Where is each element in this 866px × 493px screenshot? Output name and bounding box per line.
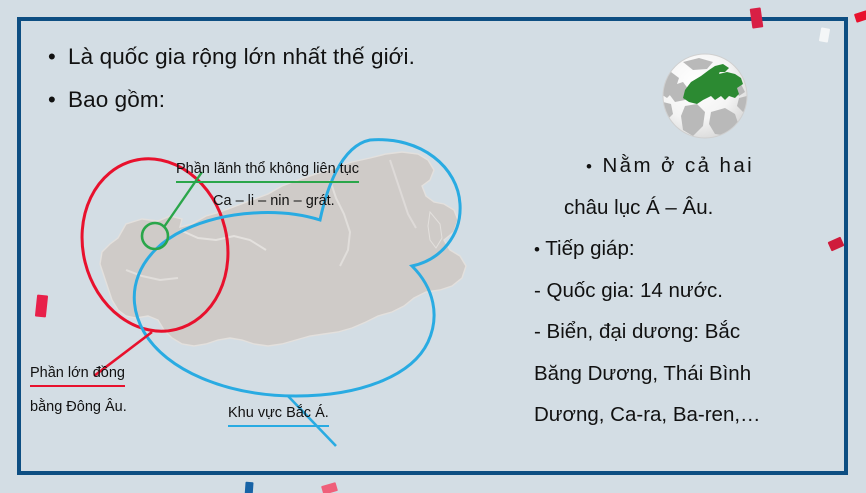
annotation-text: Ca – li – nin – grát. bbox=[213, 193, 335, 209]
confetti-white-top bbox=[819, 27, 830, 42]
bullet-dot-icon: • bbox=[48, 46, 68, 68]
right-line-text: châu lục Á – Âu. bbox=[564, 196, 713, 219]
confetti-red-top-left-of-frame bbox=[750, 7, 764, 28]
right-line-text: Băng Dương, Thái Bình bbox=[534, 362, 751, 385]
confetti-red-top-right bbox=[854, 10, 866, 23]
bullet-dot-icon: • bbox=[534, 240, 540, 259]
red-underline bbox=[30, 385, 125, 388]
globe-icon bbox=[655, 46, 755, 146]
annotation-text: Phần lãnh thổ không liên tục bbox=[176, 161, 359, 177]
right-line: Dương, Ca-ra, Ba-ren,… bbox=[534, 405, 846, 426]
annotation-europe-line1: Phần lớn đồng bbox=[30, 363, 125, 387]
right-line-text: Nằm ở cả hai bbox=[602, 154, 754, 177]
right-line-text: - Biển, đại dương: Bắc bbox=[534, 320, 740, 343]
blue-underline bbox=[228, 425, 329, 428]
bullet-dot-icon: • bbox=[586, 157, 594, 176]
confetti-blue-bottom bbox=[244, 482, 253, 493]
list-item: • Là quốc gia rộng lớn nhất thế giới. bbox=[48, 44, 518, 71]
right-line-text: - Quốc gia: 14 nước. bbox=[534, 279, 723, 302]
right-line: - Biển, đại dương: Bắc bbox=[534, 322, 846, 343]
annotation-text: bằng Đông Âu. bbox=[30, 399, 127, 415]
annotation-text: Phần lớn đồng bbox=[30, 365, 125, 381]
right-line-text: Tiếp giáp: bbox=[545, 237, 634, 260]
right-line: - Quốc gia: 14 nước. bbox=[534, 281, 846, 302]
right-line: • Nằm ở cả hai bbox=[534, 156, 846, 177]
bullet-text: Bao gồm: bbox=[68, 87, 165, 114]
annotation-north-asia: Khu vực Bắc Á. bbox=[228, 403, 329, 427]
right-line: châu lục Á – Âu. bbox=[534, 198, 846, 219]
slide-canvas: • Là quốc gia rộng lớn nhất thế giới. • … bbox=[0, 0, 866, 493]
bullet-text: Là quốc gia rộng lớn nhất thế giới. bbox=[68, 44, 415, 71]
annotation-text: Khu vực Bắc Á. bbox=[228, 405, 329, 421]
bullet-dot-icon: • bbox=[48, 89, 68, 111]
right-text-block: • Nằm ở cả hai châu lục Á – Âu. • Tiếp g… bbox=[534, 156, 846, 447]
right-line-text: Dương, Ca-ra, Ba-ren,… bbox=[534, 403, 761, 426]
left-bullet-list: • Là quốc gia rộng lớn nhất thế giới. • … bbox=[48, 44, 518, 129]
annotation-kaliningrad-title: Phần lãnh thổ không liên tục bbox=[176, 159, 359, 183]
annotation-europe-line2: bằng Đông Âu. bbox=[30, 397, 127, 418]
list-item: • Bao gồm: bbox=[48, 87, 518, 114]
right-line: Băng Dương, Thái Bình bbox=[534, 364, 846, 385]
green-underline bbox=[176, 181, 359, 184]
confetti-pink-bottom bbox=[321, 482, 338, 493]
annotation-kaliningrad-name: Ca – li – nin – grát. bbox=[213, 191, 335, 212]
right-line: • Tiếp giáp: bbox=[534, 239, 846, 260]
